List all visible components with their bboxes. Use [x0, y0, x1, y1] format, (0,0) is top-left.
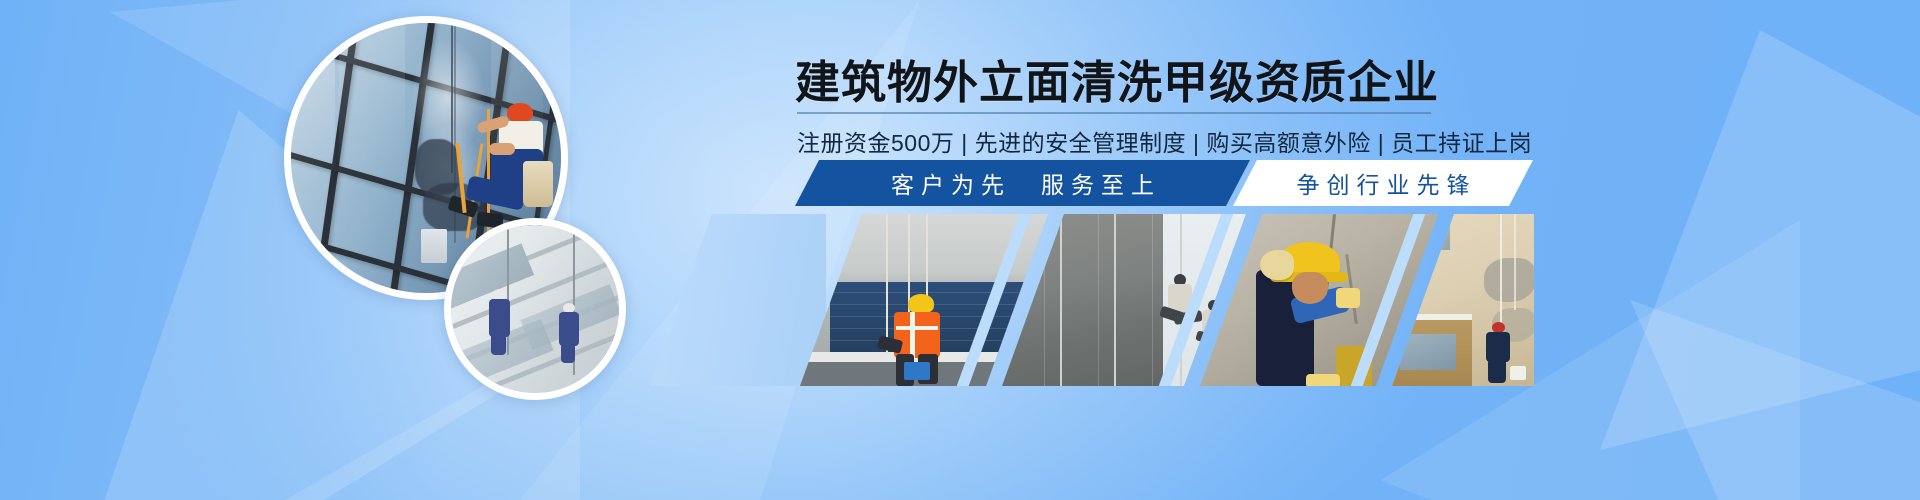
slogan-primary: 客户为先 服务至上 [795, 160, 1250, 206]
banner-subtitle: 注册资金500万 | 先进的安全管理制度 | 购买高额意外险 | 员工持证上岗 [797, 124, 1532, 158]
title-underline [797, 112, 1431, 114]
slogan-secondary: 争创行业先锋 [1233, 160, 1533, 206]
strip-lead-in [650, 214, 826, 386]
pale-facade-art [451, 225, 619, 393]
hero-banner: 建筑物外立面清洗甲级资质企业 注册资金500万 | 先进的安全管理制度 | 购买… [0, 0, 1920, 500]
page-title: 建筑物外立面清洗甲级资质企业 [795, 46, 1439, 111]
photo-strip [650, 214, 1534, 386]
circle-photo-rope-access [444, 218, 626, 400]
